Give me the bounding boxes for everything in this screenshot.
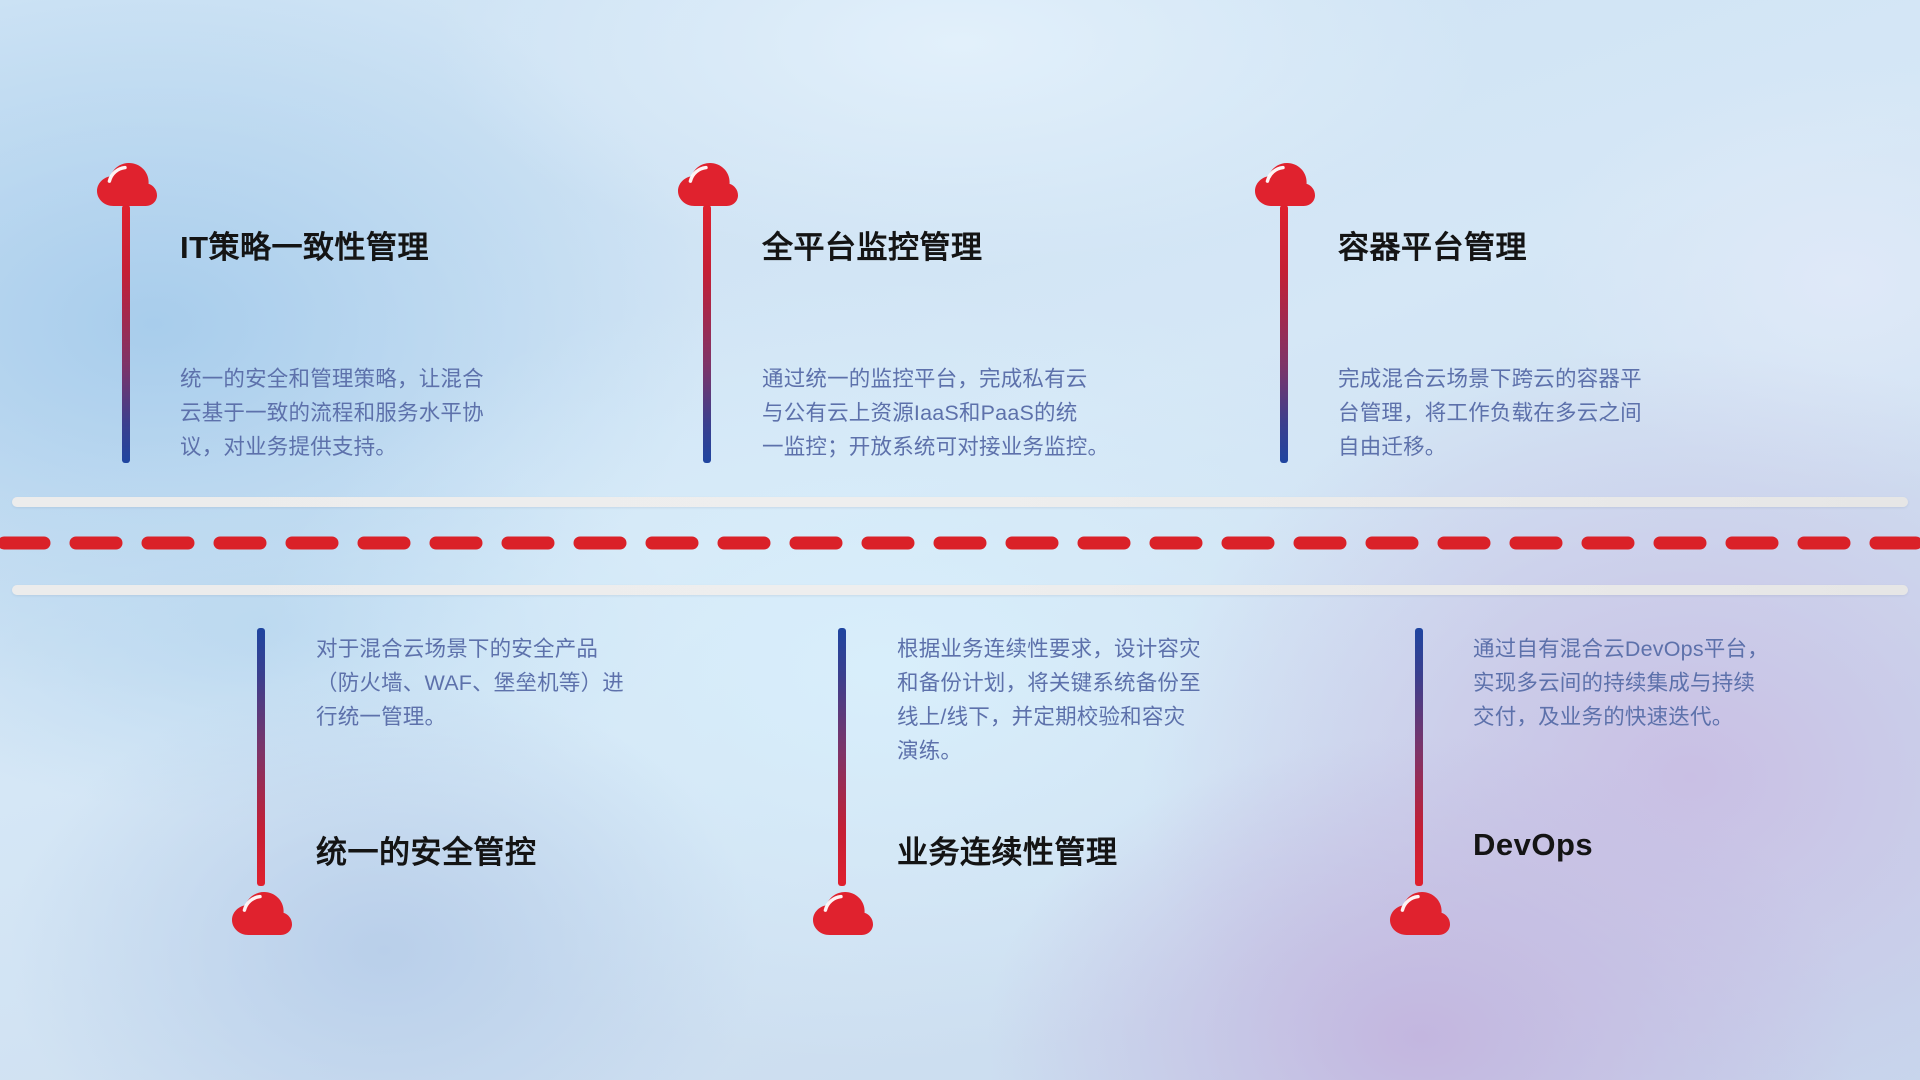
body-line: 云基于一致的流程和服务水平协	[180, 396, 484, 430]
cloud-icon	[230, 889, 294, 939]
cloud-icon	[1388, 889, 1452, 939]
column-body: 根据业务连续性要求，设计容灾 和备份计划，将关键系统备份至 线上/线下，并定期校…	[897, 632, 1201, 768]
body-line: 线上/线下，并定期校验和容灾	[897, 700, 1201, 734]
body-line: 通过自有混合云DevOps平台，	[1473, 632, 1769, 666]
divider-bar-top	[12, 497, 1908, 507]
column-body: 对于混合云场景下的安全产品 （防火墙、WAF、堡垒机等）进 行统一管理。	[316, 632, 624, 734]
connector-stem	[838, 628, 846, 886]
column-body: 通过自有混合云DevOps平台， 实现多云间的持续集成与持续 交付，及业务的快速…	[1473, 632, 1769, 734]
body-line: 台管理，将工作负载在多云之间	[1338, 396, 1642, 430]
body-line: 统一的安全和管理策略，让混合	[180, 362, 484, 396]
column-body: 通过统一的监控平台，完成私有云 与公有云上资源IaaS和PaaS的统 一监控；开…	[762, 362, 1109, 464]
body-line: 和备份计划，将关键系统备份至	[897, 666, 1201, 700]
infographic-canvas: IT策略一致性管理 统一的安全和管理策略，让混合 云基于一致的流程和服务水平协 …	[0, 0, 1920, 1080]
column-title: IT策略一致性管理	[180, 222, 429, 267]
column-title: DevOps	[1473, 827, 1593, 863]
cloud-icon	[95, 160, 159, 210]
body-line: 行统一管理。	[316, 700, 624, 734]
body-line: 交付，及业务的快速迭代。	[1473, 700, 1769, 734]
cloud-icon	[811, 889, 875, 939]
cloud-icon	[676, 160, 740, 210]
body-line: 议，对业务提供支持。	[180, 430, 484, 464]
cloud-icon	[1253, 160, 1317, 210]
column-title: 统一的安全管控	[316, 827, 537, 872]
body-line: 一监控；开放系统可对接业务监控。	[762, 430, 1109, 464]
body-line: 根据业务连续性要求，设计容灾	[897, 632, 1201, 666]
connector-stem	[703, 205, 711, 463]
body-line: 对于混合云场景下的安全产品	[316, 632, 624, 666]
column-title: 全平台监控管理	[762, 222, 983, 267]
column-title: 业务连续性管理	[897, 827, 1118, 872]
body-line: 演练。	[897, 734, 1201, 768]
red-dashed-divider	[0, 536, 1920, 550]
connector-stem	[1415, 628, 1423, 886]
body-line: 通过统一的监控平台，完成私有云	[762, 362, 1109, 396]
divider-bar-bottom	[12, 585, 1908, 595]
column-title: 容器平台管理	[1338, 222, 1527, 267]
connector-stem	[1280, 205, 1288, 463]
body-line: 自由迁移。	[1338, 430, 1642, 464]
column-body: 统一的安全和管理策略，让混合 云基于一致的流程和服务水平协 议，对业务提供支持。	[180, 362, 484, 464]
body-line: 实现多云间的持续集成与持续	[1473, 666, 1769, 700]
body-line: 与公有云上资源IaaS和PaaS的统	[762, 396, 1109, 430]
column-body: 完成混合云场景下跨云的容器平 台管理，将工作负载在多云之间 自由迁移。	[1338, 362, 1642, 464]
connector-stem	[122, 205, 130, 463]
connector-stem	[257, 628, 265, 886]
body-line: 完成混合云场景下跨云的容器平	[1338, 362, 1642, 396]
body-line: （防火墙、WAF、堡垒机等）进	[316, 666, 624, 700]
